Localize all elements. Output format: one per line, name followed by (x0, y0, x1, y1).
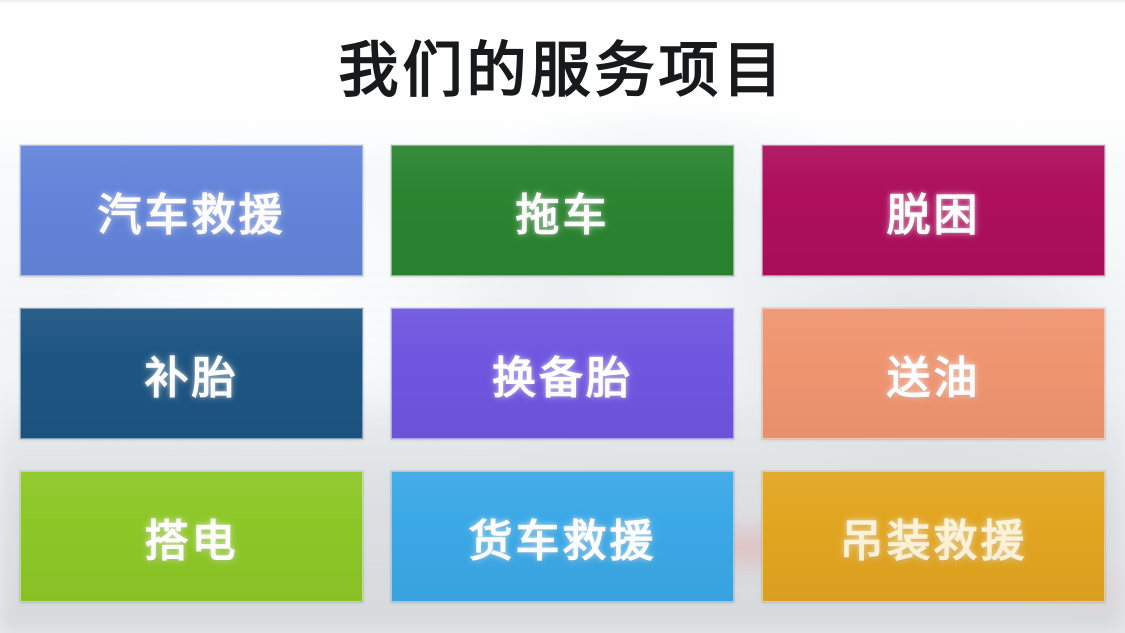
service-tile-label: 吊装救援 (840, 505, 1028, 569)
service-tile-qiche-jiuyuan[interactable]: 汽车救援 (20, 145, 363, 276)
service-poster: 我们的服务项目 汽车救援 拖车 脱困 补胎 换备胎 送油 搭电 货车救援 吊装救… (0, 0, 1125, 633)
page-title: 我们的服务项目 (0, 20, 1125, 110)
service-tile-songyou[interactable]: 送油 (762, 308, 1105, 439)
service-tile-label: 送油 (887, 342, 981, 406)
service-tile-label: 拖车 (516, 179, 610, 243)
service-tile-butai[interactable]: 补胎 (20, 308, 363, 439)
service-tile-tuoche[interactable]: 拖车 (391, 145, 734, 276)
service-tile-huoche-jiuyuan[interactable]: 货车救援 (391, 471, 734, 602)
service-tile-diaozhuang-jiuyuan[interactable]: 吊装救援 (762, 471, 1105, 602)
service-tile-tuokun[interactable]: 脱困 (762, 145, 1105, 276)
service-tile-huanbeitai[interactable]: 换备胎 (391, 308, 734, 439)
service-tile-dadian[interactable]: 搭电 (20, 471, 363, 602)
service-tile-label: 搭电 (145, 505, 239, 569)
top-divider (0, 0, 1125, 3)
service-tile-label: 脱困 (887, 179, 981, 243)
service-tile-label: 换备胎 (492, 342, 633, 406)
service-tile-label: 货车救援 (469, 505, 657, 569)
service-tile-label: 补胎 (145, 342, 239, 406)
service-grid: 汽车救援 拖车 脱困 补胎 换备胎 送油 搭电 货车救援 吊装救援 (20, 145, 1105, 601)
service-tile-label: 汽车救援 (98, 179, 286, 243)
